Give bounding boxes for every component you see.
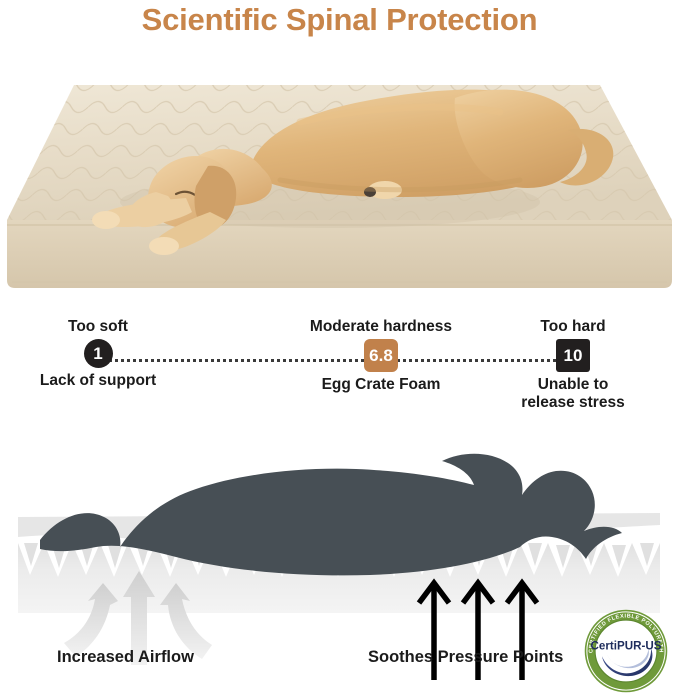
product-infographic: Scientific Spinal Protection xyxy=(0,0,679,693)
scale-node-bottom-label-line2: release stress xyxy=(493,394,653,412)
scale-badge-1: 1 xyxy=(84,339,113,368)
scale-node-top-label: Moderate hardness xyxy=(291,318,471,335)
hardness-scale: Too soft 1 Lack of support Moderate hard… xyxy=(0,312,679,422)
certipur-wordmark: CertiPUR-US xyxy=(591,639,662,652)
hero-product-photo xyxy=(0,52,679,300)
scale-node-bottom-label-line1: Unable to xyxy=(493,376,653,394)
label-increased-airflow: Increased Airflow xyxy=(57,648,194,667)
label-soothes-pressure-points: Soothes Pressure Points xyxy=(368,648,563,667)
scale-badge-6-8: 6.8 xyxy=(364,339,398,372)
scale-node-too-soft: Too soft 1 Lack of support xyxy=(8,318,188,390)
scale-node-top-label: Too hard xyxy=(493,318,653,335)
scale-badge-10: 10 xyxy=(556,339,590,372)
certipur-seal-icon: COMPANY CERTIFIED FLEXIBLE POLYURETHANE … xyxy=(583,608,669,693)
dog-on-bed-illustration xyxy=(0,52,679,300)
scale-node-bottom-label: Lack of support xyxy=(8,372,188,390)
scale-node-bottom-label: Egg Crate Foam xyxy=(291,376,471,394)
page-title: Scientific Spinal Protection xyxy=(0,2,679,38)
certipur-us-badge: COMPANY CERTIFIED FLEXIBLE POLYURETHANE … xyxy=(583,608,669,693)
scale-node-moderate: Moderate hardness 6.8 Egg Crate Foam xyxy=(291,318,471,394)
scale-node-top-label: Too soft xyxy=(8,318,188,335)
scale-node-too-hard: Too hard 10 Unable to release stress xyxy=(493,318,653,412)
